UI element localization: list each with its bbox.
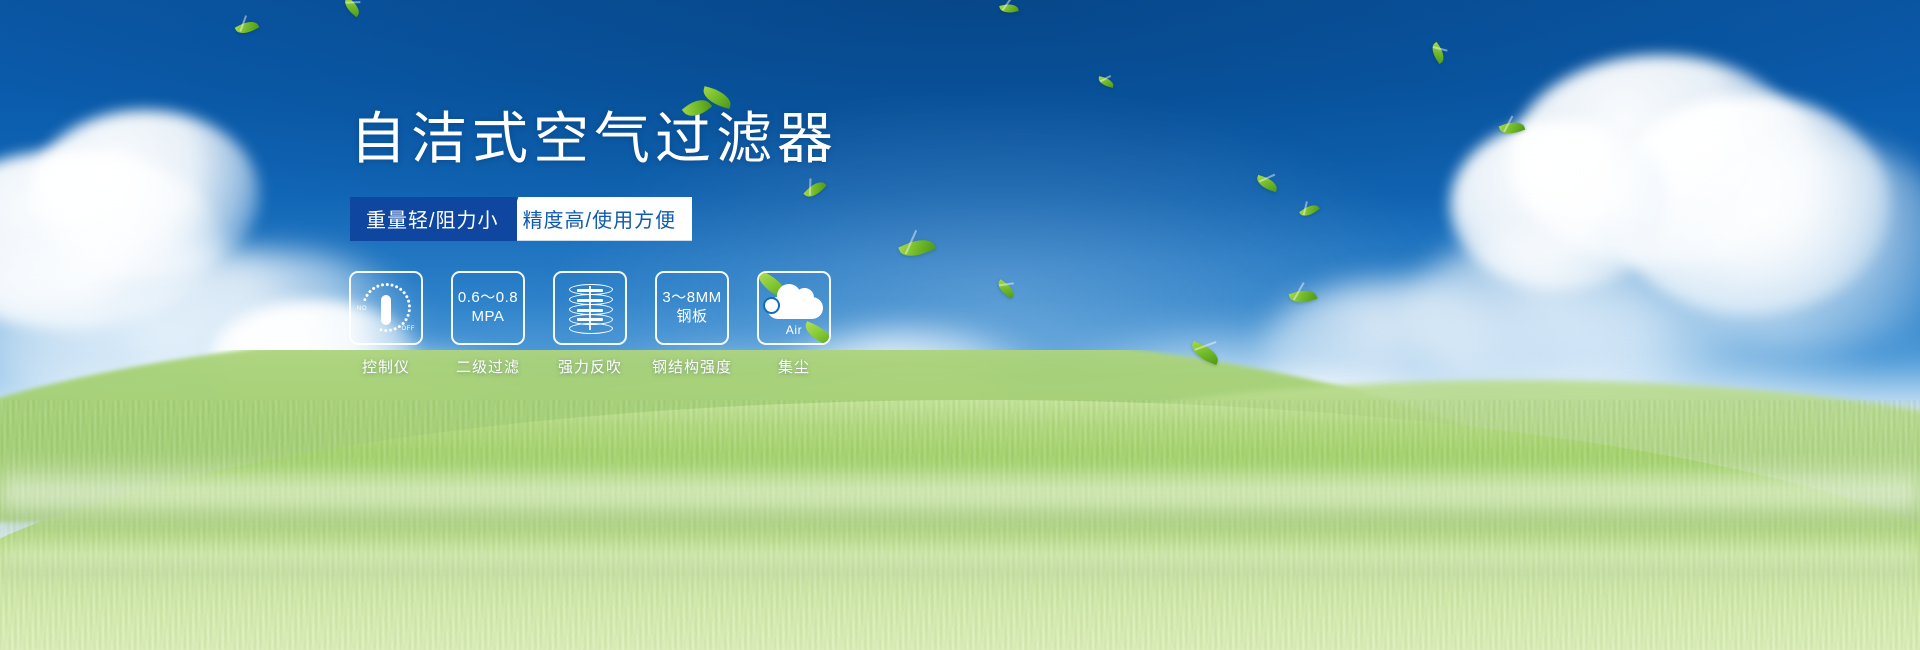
gauge-label-off: OFF: [402, 326, 416, 332]
steel-thickness: 3～8MM: [662, 289, 721, 306]
gauge-label-no: NO: [357, 306, 367, 312]
feature-box: 0.6～0.8 MPA: [451, 271, 525, 345]
feature-label: 二级过滤: [456, 356, 520, 377]
subtitle-badge-right: 精度高/使用方便: [503, 197, 693, 241]
feature-label: 控制仪: [362, 356, 410, 377]
coil-icon: [567, 282, 613, 334]
feature-box: NO OFF: [349, 271, 423, 345]
subtitle-badge-left: 重量轻/阻力小: [350, 197, 517, 241]
feature-box: 3～8MM 钢板: [655, 271, 729, 345]
feature-box: [553, 271, 627, 345]
feature-item-dust-collection[interactable]: Air 集尘: [758, 271, 830, 377]
subtitle-badges: 重量轻/阻力小 精度高/使用方便: [350, 197, 672, 241]
feature-box: Air: [757, 271, 831, 345]
pressure-value: 0.6～0.8: [458, 289, 518, 306]
feature-label: 集尘: [778, 356, 810, 377]
air-cloud-icon: Air: [759, 273, 829, 343]
pressure-unit: MPA: [458, 308, 518, 326]
gauge-icon: NO OFF: [356, 278, 416, 338]
air-label: Air: [759, 323, 829, 337]
grass-field: [0, 350, 1920, 650]
feature-item-two-stage-filter[interactable]: 0.6～0.8 MPA 二级过滤: [452, 271, 524, 377]
page-title: 自洁式空气过滤器: [350, 108, 970, 171]
title-leaf-icon: [682, 86, 738, 126]
feature-item-backblow[interactable]: 强力反吹: [554, 271, 626, 377]
feature-label: 钢结构强度: [652, 356, 732, 377]
feature-item-steel-strength[interactable]: 3～8MM 钢板 钢结构强度: [656, 271, 728, 377]
pressure-icon: 0.6～0.8 MPA: [458, 289, 518, 326]
steel-material: 钢板: [662, 308, 721, 326]
promo-banner: 自洁式空气过滤器 重量轻/阻力小 精度高/使用方便: [0, 0, 1920, 650]
cloud-pebble: [765, 299, 778, 312]
feature-label: 强力反吹: [558, 356, 622, 377]
feature-item-controller[interactable]: NO OFF 控制仪: [350, 271, 422, 377]
feature-icon-row: NO OFF 控制仪 0.6～0.8 MPA 二级过滤: [350, 271, 970, 377]
banner-content: 自洁式空气过滤器 重量轻/阻力小 精度高/使用方便: [350, 108, 970, 377]
steel-plate-icon: 3～8MM 钢板: [662, 289, 721, 326]
